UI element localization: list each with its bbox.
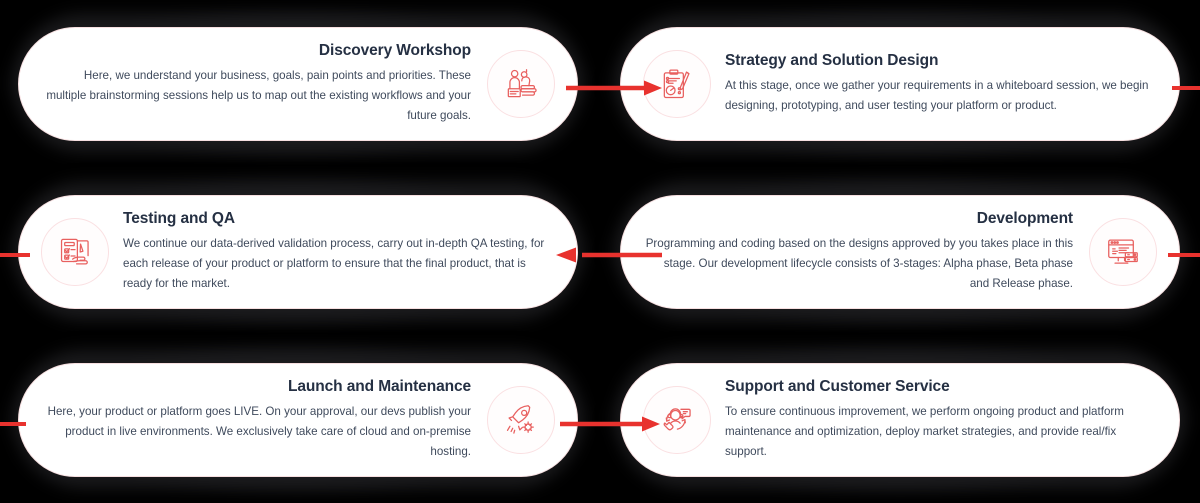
card-text-block: Development Programming and coding based… [643,210,1075,293]
card-title: Testing and QA [123,210,555,229]
card-title: Development [643,210,1073,229]
card-launch-and-maintenance[interactable]: Launch and Maintenance Here, your produc… [18,363,578,477]
card-support-and-customer-service[interactable]: Support and Customer Service To ensure c… [620,363,1180,477]
connector-stub-row3-left [0,422,26,426]
card-title: Discovery Workshop [41,42,471,61]
card-description: At this stage, once we gather your requi… [725,76,1157,116]
card-title: Strategy and Solution Design [725,52,1157,71]
card-description: Programming and coding based on the desi… [643,234,1073,294]
card-slot-support-customer-service: Support and Customer Service To ensure c… [620,336,1180,503]
card-development[interactable]: Development Programming and coding based… [620,195,1180,309]
arrow-left-connector-row-2 [556,240,662,270]
card-description: We continue our data-derived validation … [123,234,555,294]
connector-stub-row2-right [1168,253,1200,257]
card-title: Launch and Maintenance [41,378,471,397]
workshop-presentation-icon [487,50,555,118]
card-description: Here, your product or platform goes LIVE… [41,402,471,462]
card-slot-testing-qa: Testing and QA We continue our data-deri… [18,168,578,336]
card-text-block: Strategy and Solution Design At this sta… [725,52,1157,115]
connector-stub-row1-right [1172,86,1200,90]
card-description: Here, we understand your business, goals… [41,66,471,126]
card-slot-discovery-workshop: Discovery Workshop Here, we understand y… [18,0,578,168]
arrow-right-connector-row-3 [560,409,660,439]
connector-stub-row2-left [0,253,30,257]
card-slot-strategy-solution-design: Strategy and Solution Design At this sta… [620,0,1180,168]
monitor-code-server-icon [1089,218,1157,286]
checklist-hand-icon [41,218,109,286]
process-flow-board: Discovery Workshop Here, we understand y… [0,0,1200,503]
rocket-launch-icon [487,386,555,454]
card-description: To ensure continuous improvement, we per… [725,402,1157,462]
card-testing-and-qa[interactable]: Testing and QA We continue our data-deri… [18,195,578,309]
card-discovery-workshop[interactable]: Discovery Workshop Here, we understand y… [18,27,578,141]
card-slot-launch-maintenance: Launch and Maintenance Here, your produc… [18,336,578,503]
arrow-right-connector-row-1 [566,73,662,103]
card-text-block: Testing and QA We continue our data-deri… [123,210,555,293]
card-strategy-solution-design[interactable]: Strategy and Solution Design At this sta… [620,27,1180,141]
card-text-block: Discovery Workshop Here, we understand y… [41,42,473,125]
card-title: Support and Customer Service [725,378,1157,397]
card-slot-development: Development Programming and coding based… [620,168,1180,336]
card-text-block: Launch and Maintenance Here, your produc… [41,378,473,461]
card-text-block: Support and Customer Service To ensure c… [725,378,1157,461]
